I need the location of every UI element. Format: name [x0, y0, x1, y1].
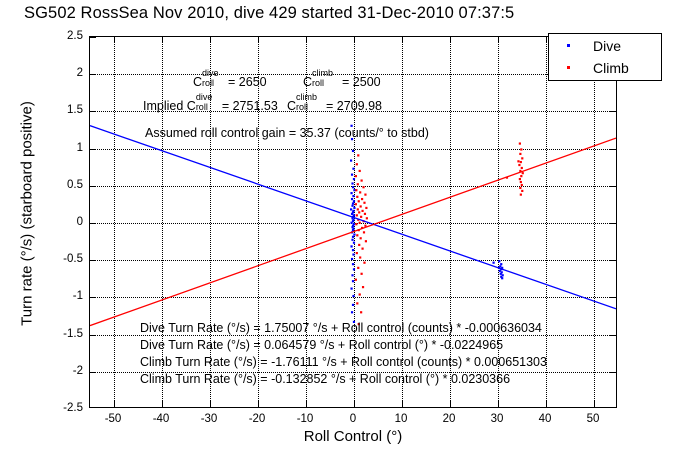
data-point	[358, 211, 360, 213]
data-point	[350, 245, 352, 247]
data-point	[353, 268, 355, 270]
y-tick-label: 2.5	[43, 30, 83, 42]
implied-prefix-label: Implied	[143, 99, 183, 113]
data-point	[520, 161, 522, 163]
x-tick-label: 40	[523, 413, 567, 425]
data-point	[360, 205, 362, 207]
data-point	[352, 295, 354, 297]
y-tick-label: -2	[43, 365, 83, 377]
plot-area: Cdiveroll= 2650 Cclimbroll= 2500 Implied…	[89, 36, 617, 408]
data-point	[351, 213, 353, 215]
data-point	[352, 186, 354, 188]
data-point	[498, 260, 500, 262]
data-point	[364, 213, 366, 215]
data-point	[363, 231, 365, 233]
c-roll-dive-subscript: roll	[202, 79, 214, 88]
data-point	[353, 189, 355, 191]
data-point	[359, 222, 361, 224]
data-point	[520, 148, 522, 150]
x-axis-label: Roll Control (°)	[89, 428, 617, 445]
data-point	[352, 168, 354, 170]
data-point	[501, 277, 503, 279]
data-point	[360, 216, 362, 218]
y-axis-label: Turn rate (°/s) (starboard positive)	[19, 54, 36, 374]
data-point	[357, 154, 359, 156]
data-point	[352, 202, 354, 204]
data-point	[355, 203, 357, 205]
data-point	[355, 279, 357, 281]
data-point	[355, 175, 357, 177]
data-point	[352, 249, 354, 251]
x-tick-label: -30	[187, 413, 231, 425]
data-point	[352, 236, 354, 238]
data-point	[353, 200, 355, 202]
legend[interactable]: DiveClimb	[548, 33, 662, 81]
figure-container: SG502 RossSea Nov 2010, dive 429 started…	[0, 0, 681, 454]
x-tick-label: 50	[571, 413, 615, 425]
data-point	[351, 311, 353, 313]
data-point	[356, 302, 358, 304]
y-tick-label: -2.5	[43, 402, 83, 414]
data-point	[519, 178, 521, 180]
data-point	[352, 195, 354, 197]
data-point	[359, 256, 361, 258]
data-point	[356, 214, 358, 216]
data-point	[358, 200, 360, 202]
annotation-equation-dive-degrees: Dive Turn Rate (°/s) = 0.064579 °/s + Ro…	[140, 338, 503, 352]
x-tick-label: -40	[139, 413, 183, 425]
data-point	[351, 205, 353, 207]
data-point	[361, 210, 363, 212]
data-point	[360, 237, 362, 239]
annotation-implied-climb: Cclimbroll= 2709.98	[287, 99, 382, 113]
implied-dive-subscript: roll	[196, 103, 208, 112]
data-point	[351, 182, 353, 184]
data-point	[352, 253, 354, 255]
data-point	[361, 248, 363, 250]
c-roll-dive-value: = 2650	[228, 75, 267, 89]
data-point	[353, 178, 355, 180]
implied-dive-value: = 2751.53	[222, 99, 278, 113]
series-climb	[355, 142, 524, 325]
data-point	[517, 160, 519, 162]
legend-item-climb[interactable]: Climb	[549, 57, 661, 79]
legend-item-dive[interactable]: Dive	[549, 35, 661, 57]
data-point	[500, 273, 502, 275]
data-point	[351, 174, 353, 176]
data-point	[357, 267, 359, 269]
y-tick-label: -1.5	[43, 328, 83, 340]
data-point	[357, 183, 359, 185]
x-tick-label: 10	[379, 413, 423, 425]
data-point	[357, 208, 359, 210]
data-point	[351, 198, 353, 200]
data-point	[355, 223, 357, 225]
x-tick-label: 20	[427, 413, 471, 425]
annotation-c-roll-dive: Cdiveroll= 2650	[193, 75, 267, 89]
data-point	[350, 222, 352, 224]
data-point	[519, 142, 521, 144]
annotation-implied-dive: Implied Cdiveroll= 2751.53	[143, 99, 278, 113]
legend-label: Climb	[593, 59, 629, 77]
annotation-equation-climb-degrees: Climb Turn Rate (°/s) = -0.132852 °/s + …	[140, 372, 510, 386]
data-point	[351, 258, 353, 260]
data-point	[363, 202, 365, 204]
data-point	[350, 288, 352, 290]
x-tick-label: -50	[91, 413, 135, 425]
data-point	[361, 273, 363, 275]
data-point	[366, 217, 368, 219]
data-point	[353, 233, 355, 235]
data-point	[356, 234, 358, 236]
annotation-c-roll-climb: Cclimbroll= 2500	[303, 75, 381, 89]
data-point	[352, 263, 354, 265]
implied-climb-subscript: roll	[296, 103, 308, 112]
data-point	[492, 262, 494, 264]
data-point	[364, 194, 366, 196]
data-point	[350, 159, 352, 161]
data-point	[350, 208, 352, 210]
y-tick-label: -1	[43, 290, 83, 302]
legend-label: Dive	[593, 37, 621, 55]
data-point	[520, 194, 522, 196]
data-point	[356, 196, 358, 198]
data-point	[361, 198, 363, 200]
y-tick-label: 1.5	[43, 104, 83, 116]
data-point	[521, 167, 523, 169]
data-point	[520, 181, 522, 183]
data-point	[350, 192, 352, 194]
annotation-roll-control-gain: Assumed roll control gain = 35.37 (count…	[145, 126, 429, 140]
data-point	[359, 293, 361, 295]
data-point	[499, 270, 501, 272]
data-point	[362, 186, 364, 188]
page-title: SG502 RossSea Nov 2010, dive 429 started…	[24, 2, 681, 24]
annotation-equation-climb-counts: Climb Turn Rate (°/s) = -1.76111 °/s + R…	[140, 355, 547, 369]
data-point	[353, 207, 355, 209]
y-tick-label: 0.5	[43, 179, 83, 191]
data-point	[361, 179, 363, 181]
data-point	[521, 190, 523, 192]
data-point	[356, 163, 358, 165]
fit-line-climb	[90, 138, 616, 326]
annotation-equation-dive-counts: Dive Turn Rate (°/s) = 1.75007 °/s + Rol…	[140, 321, 542, 335]
data-point	[522, 172, 524, 174]
x-tick-label: 30	[475, 413, 519, 425]
data-point	[500, 263, 502, 265]
y-tick-label: 1	[43, 142, 83, 154]
x-tick-label: -20	[235, 413, 279, 425]
data-point	[521, 184, 523, 186]
c-roll-climb-value: = 2500	[342, 75, 381, 89]
data-point	[352, 280, 354, 282]
x-tick-label: 0	[331, 413, 375, 425]
legend-marker-icon	[567, 44, 570, 47]
data-point	[352, 150, 354, 152]
data-point	[356, 252, 358, 254]
x-tick-label: -10	[283, 413, 327, 425]
data-point	[363, 262, 365, 264]
data-point	[365, 207, 367, 209]
implied-climb-value: = 2709.98	[326, 99, 382, 113]
data-point	[351, 274, 353, 276]
data-point	[365, 240, 367, 242]
data-point	[351, 239, 353, 241]
legend-marker-icon	[567, 66, 570, 69]
data-point	[360, 311, 362, 313]
data-point	[519, 153, 521, 155]
y-tick-label: 0	[43, 216, 83, 228]
data-point	[518, 164, 520, 166]
y-tick-label: -0.5	[43, 253, 83, 265]
data-point	[359, 191, 361, 193]
data-point	[352, 304, 354, 306]
data-point	[353, 242, 355, 244]
data-point	[520, 175, 522, 177]
y-tick-label: 2	[43, 67, 83, 79]
data-point	[358, 244, 360, 246]
c-roll-climb-subscript: roll	[312, 79, 324, 88]
data-point	[519, 187, 521, 189]
data-point	[521, 157, 523, 159]
data-point	[362, 286, 364, 288]
data-point	[355, 189, 357, 191]
data-point	[359, 170, 361, 172]
